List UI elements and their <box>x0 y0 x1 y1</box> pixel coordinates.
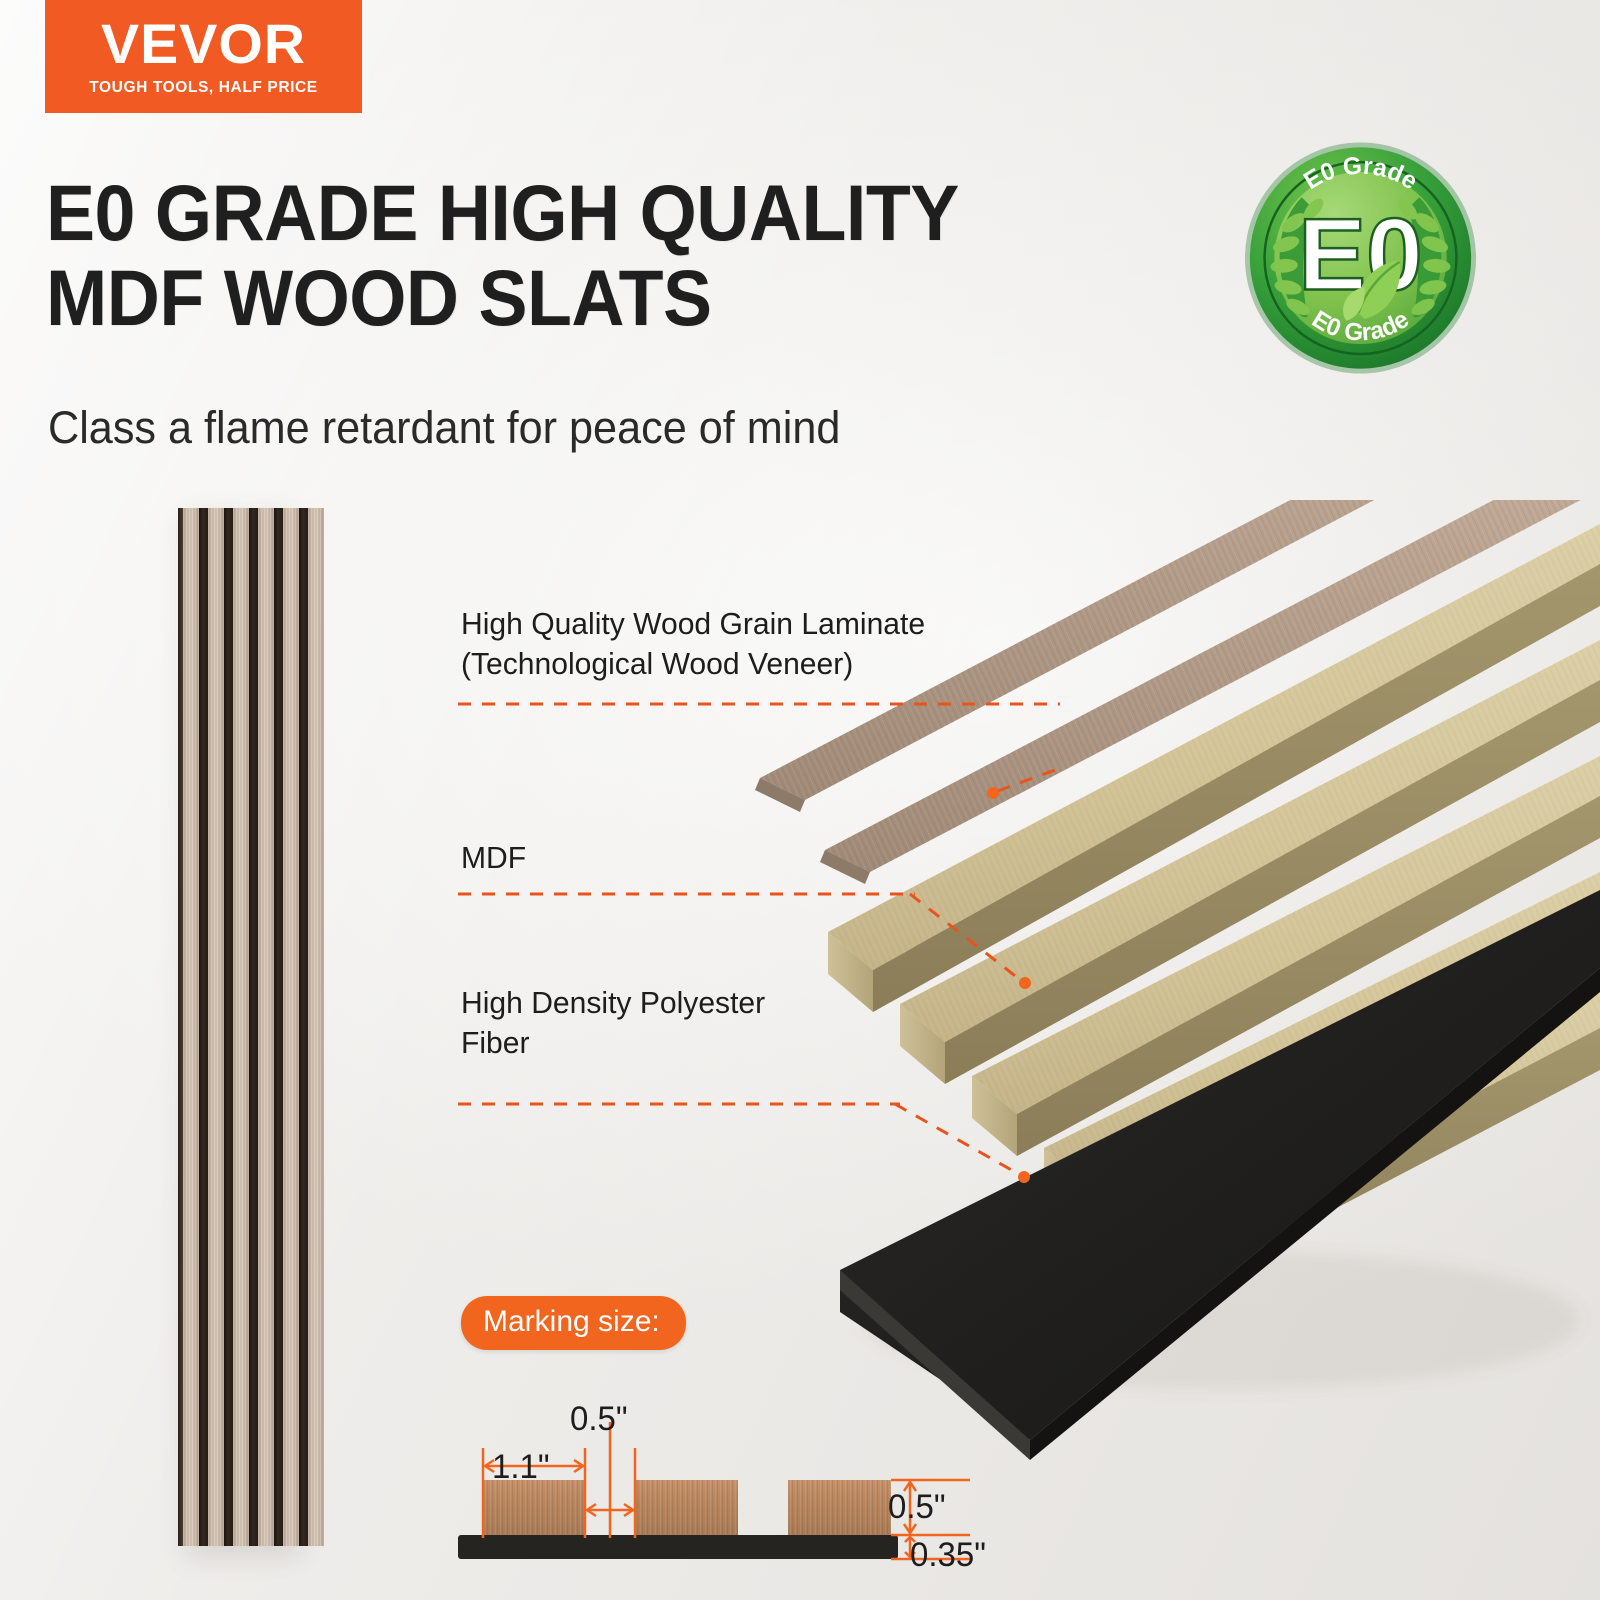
panel-slat <box>283 508 299 1546</box>
vevor-logo[interactable]: VEVOR TOUGH TOOLS, HALF PRICE <box>45 0 362 113</box>
dimension-label-height: 0.5" <box>888 1488 946 1527</box>
callout-line-1: High Quality Wood Grain Laminate <box>461 604 1004 644</box>
callout-line-1: High Density Polyester <box>461 983 868 1023</box>
e0-grade-badge: E0 E0 Grade E0 Grade <box>1243 139 1478 377</box>
logo-wordmark: VEVOR <box>101 16 306 72</box>
panel-groove <box>299 508 308 1546</box>
dimension-label-gap: 0.5" <box>570 1400 628 1439</box>
panel-slat <box>208 508 224 1546</box>
panel-slat <box>183 508 199 1546</box>
panel-groove <box>274 508 283 1546</box>
panel-slat <box>233 508 249 1546</box>
dimension-wood-block <box>788 1480 891 1535</box>
page-subtitle: Class a flame retardant for peace of min… <box>48 402 1104 454</box>
dimension-wood-block <box>635 1480 738 1535</box>
callout-label-laminate: High Quality Wood Grain Laminate (Techno… <box>461 604 1004 683</box>
panel-groove <box>224 508 233 1546</box>
infographic-canvas: VEVOR TOUGH TOOLS, HALF PRICE E0 GRADE H… <box>0 0 1600 1600</box>
dimension-label-thickness: 0.35" <box>910 1536 986 1575</box>
page-title: E0 GRADE HIGH QUALITY MDF WOOD SLATS <box>46 171 1032 340</box>
panel-slat <box>258 508 274 1546</box>
dimension-wood-block <box>482 1480 585 1535</box>
dimension-label-width: 1.1" <box>492 1448 550 1487</box>
callout-line-2: (Technological Wood Veneer) <box>461 644 1004 684</box>
callout-label-fiber: High Density Polyester Fiber <box>461 983 868 1062</box>
dimension-base-panel <box>458 1535 898 1559</box>
callout-line-2: Fiber <box>461 1023 868 1063</box>
product-photo-slat-panel <box>178 508 291 1546</box>
panel-groove <box>199 508 208 1546</box>
callout-label-mdf: MDF <box>461 838 752 878</box>
marking-size-badge: Marking size: <box>461 1296 686 1350</box>
panel-groove <box>249 508 258 1546</box>
logo-tagline: TOUGH TOOLS, HALF PRICE <box>89 79 318 97</box>
panel-slat <box>308 508 324 1546</box>
callout-line-1: MDF <box>461 838 752 878</box>
